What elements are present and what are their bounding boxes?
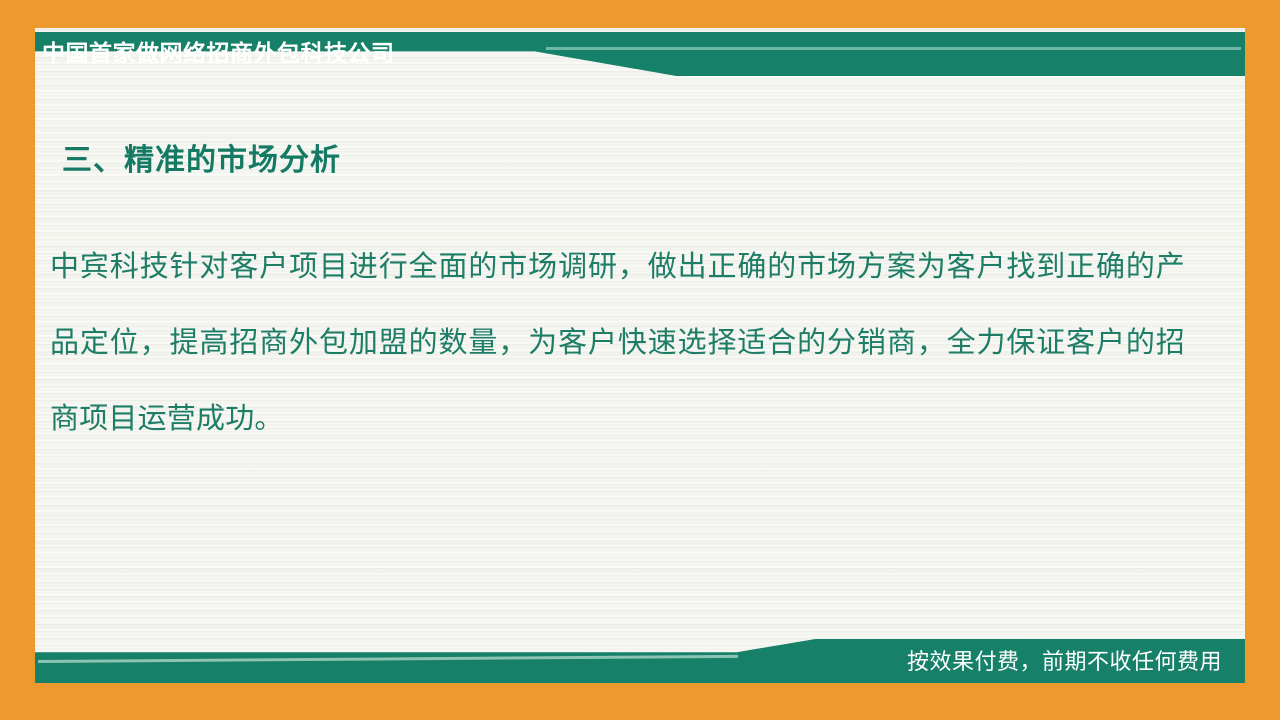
header-accent-line: [546, 47, 1241, 50]
body-paragraph: 中宾科技针对客户项目进行全面的市场调研，做出正确的市场方案为客户找到正确的产品定…: [50, 228, 1185, 456]
header-title: 中国首家做网络招商外包科技公司: [42, 33, 395, 75]
body-paragraph-text: 中宾科技针对客户项目进行全面的市场调研，做出正确的市场方案为客户找到正确的产品定…: [50, 228, 1185, 456]
presentation-slide: 中国首家做网络招商外包科技公司 三、精准的市场分析 中宾科技针对客户项目进行全面…: [0, 0, 1280, 720]
section-heading: 三、精准的市场分析: [62, 135, 341, 179]
footer-tagline: 按效果付费，前期不收任何费用: [907, 645, 1222, 681]
